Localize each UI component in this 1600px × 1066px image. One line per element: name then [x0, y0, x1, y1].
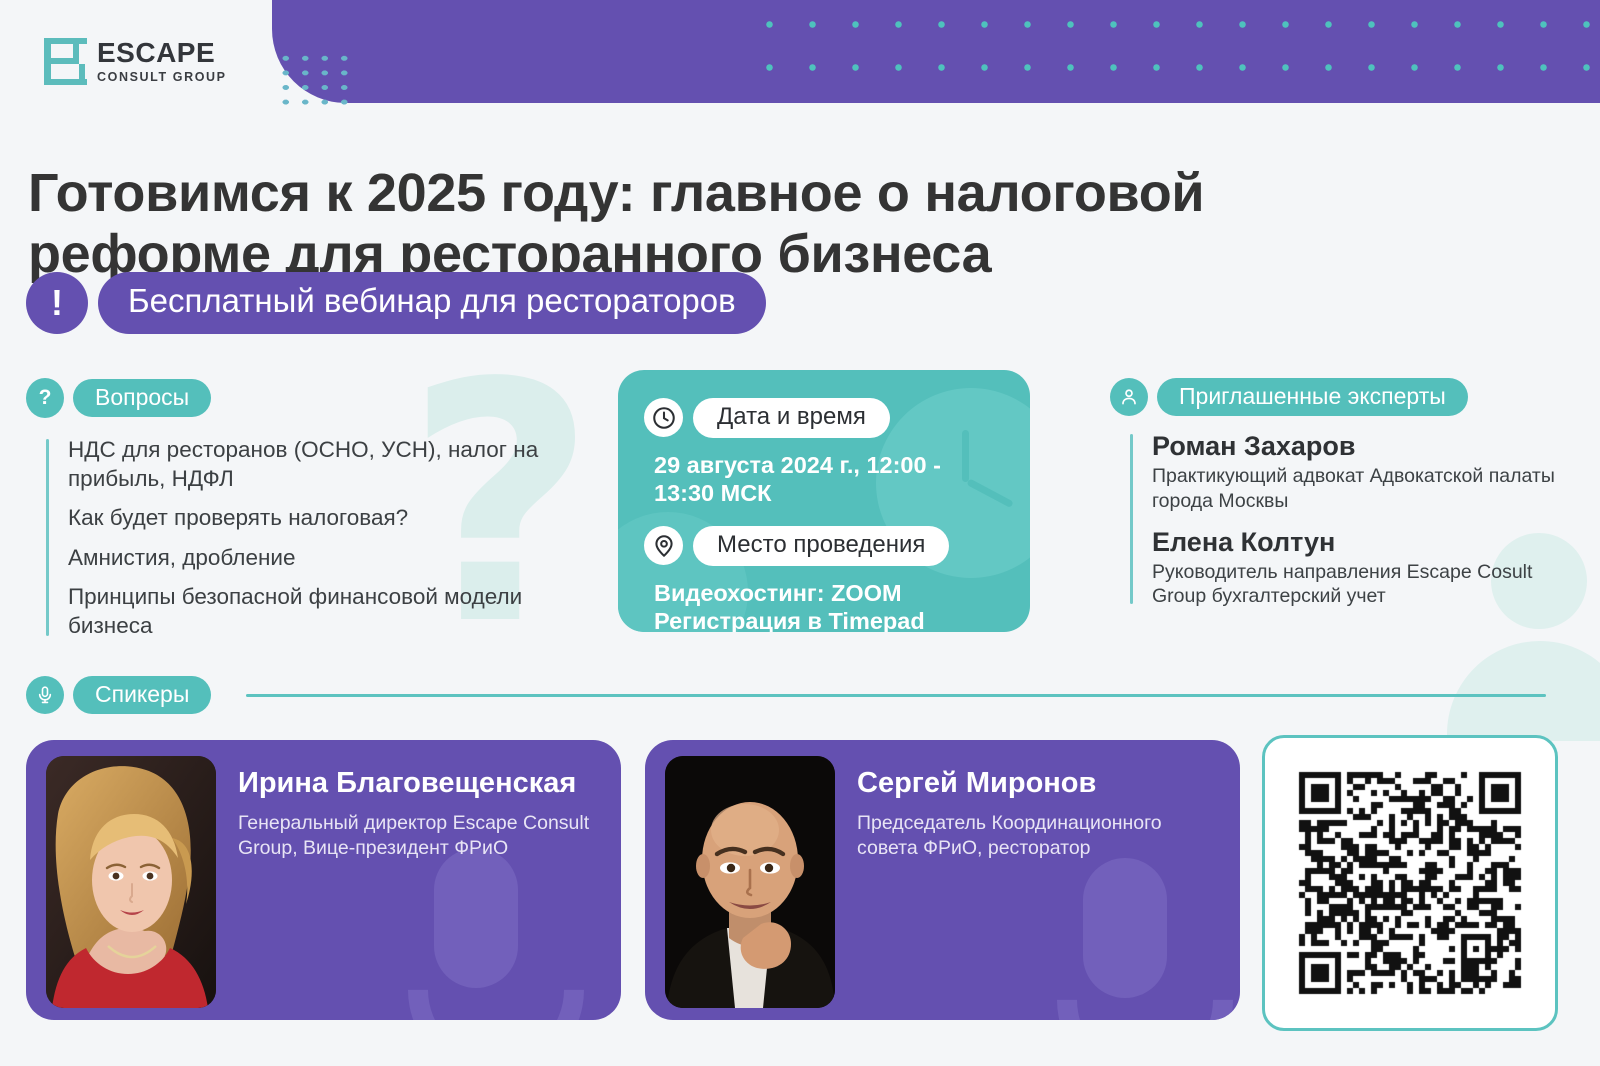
- divider: [246, 694, 1546, 697]
- experts-section: Приглашенные эксперты Роман Захаров Прак…: [1110, 378, 1580, 608]
- expert-name: Роман Захаров: [1152, 430, 1580, 463]
- speaker-card: Ирина Благовещенская Генеральный директо…: [26, 740, 621, 1020]
- banner-dot-pattern: [740, 0, 1600, 103]
- list-item: Как будет проверять налоговая?: [68, 504, 586, 533]
- speaker-role: Генеральный директор Escape Consult Grou…: [238, 811, 601, 861]
- avatar: [665, 756, 835, 1008]
- microphone-icon: [26, 676, 64, 714]
- venue-label: Место проведения: [693, 526, 949, 566]
- avatar: [46, 756, 216, 1008]
- person-icon: [1110, 378, 1148, 416]
- speakers-title: Спикеры: [73, 676, 211, 714]
- questions-list: НДС для ресторанов (ОСНО, УСН), налог на…: [46, 436, 586, 640]
- expert-name: Елена Колтун: [1152, 526, 1580, 559]
- questions-section: ? Вопросы НДС для ресторанов (ОСНО, УСН)…: [26, 378, 586, 640]
- clock-icon: [644, 398, 683, 437]
- datetime-label: Дата и время: [693, 398, 890, 438]
- brand-name: ESCAPE: [97, 39, 227, 67]
- datetime-value: 29 августа 2024 г., 12:00 - 13:30 МСК: [654, 451, 1006, 508]
- list-item: Принципы безопасной финансовой модели би…: [68, 583, 586, 640]
- expert-role: Практикующий адвокат Адвокатской палаты …: [1152, 464, 1580, 512]
- questions-title: Вопросы: [73, 379, 211, 417]
- microphone-watermark-icon: [356, 840, 616, 1020]
- list-item: Амнистия, дробление: [68, 544, 586, 573]
- escape-e-mark-icon: [44, 38, 87, 85]
- questions-header: ? Вопросы: [26, 378, 586, 418]
- banner-corner-dot-pattern: [274, 49, 352, 107]
- list-item: НДС для ресторанов (ОСНО, УСН), налог на…: [68, 436, 586, 493]
- venue-value: Видеохостинг: ZOOM Регистрация в Timepad: [654, 579, 1006, 633]
- microphone-watermark-icon: [1005, 850, 1240, 1020]
- question-mark-icon: ?: [26, 378, 64, 418]
- brand-logo: ESCAPE CONSULT GROUP: [44, 38, 227, 85]
- exclamation-icon: !: [26, 272, 88, 334]
- poster-root: ESCAPE CONSULT GROUP Готовимся к 2025 го…: [0, 0, 1600, 1066]
- event-details-card: Дата и время 29 августа 2024 г., 12:00 -…: [618, 370, 1030, 632]
- brand-logo-text: ESCAPE CONSULT GROUP: [97, 39, 227, 84]
- page-title: Готовимся к 2025 году: главное о налогов…: [28, 163, 1328, 284]
- qr-code-card[interactable]: [1262, 735, 1558, 1031]
- free-webinar-banner: ! Бесплатный вебинар для рестораторов: [26, 272, 766, 334]
- location-pin-icon: [644, 526, 683, 565]
- list-item: Елена Колтун Руководитель направления Es…: [1152, 526, 1580, 608]
- experts-header: Приглашенные эксперты: [1110, 378, 1580, 416]
- qr-code-icon[interactable]: [1294, 767, 1526, 999]
- expert-role: Руководитель направления Escape Cosult G…: [1152, 560, 1580, 608]
- list-item: Роман Захаров Практикующий адвокат Адвок…: [1152, 430, 1580, 512]
- speaker-card: Сергей Миронов Председатель Координацион…: [645, 740, 1240, 1020]
- header-banner: [272, 0, 1600, 103]
- speaker-role: Председатель Координационного совета ФРи…: [857, 811, 1220, 861]
- experts-title: Приглашенные эксперты: [1157, 378, 1468, 416]
- speaker-name: Сергей Миронов: [857, 766, 1220, 800]
- venue-header: Место проведения: [644, 526, 1006, 566]
- speakers-header: Спикеры: [26, 676, 1546, 714]
- experts-list: Роман Захаров Практикующий адвокат Адвок…: [1130, 430, 1580, 608]
- datetime-header: Дата и время: [644, 398, 1006, 438]
- brand-tagline: CONSULT GROUP: [97, 71, 227, 84]
- speaker-name: Ирина Благовещенская: [238, 766, 601, 800]
